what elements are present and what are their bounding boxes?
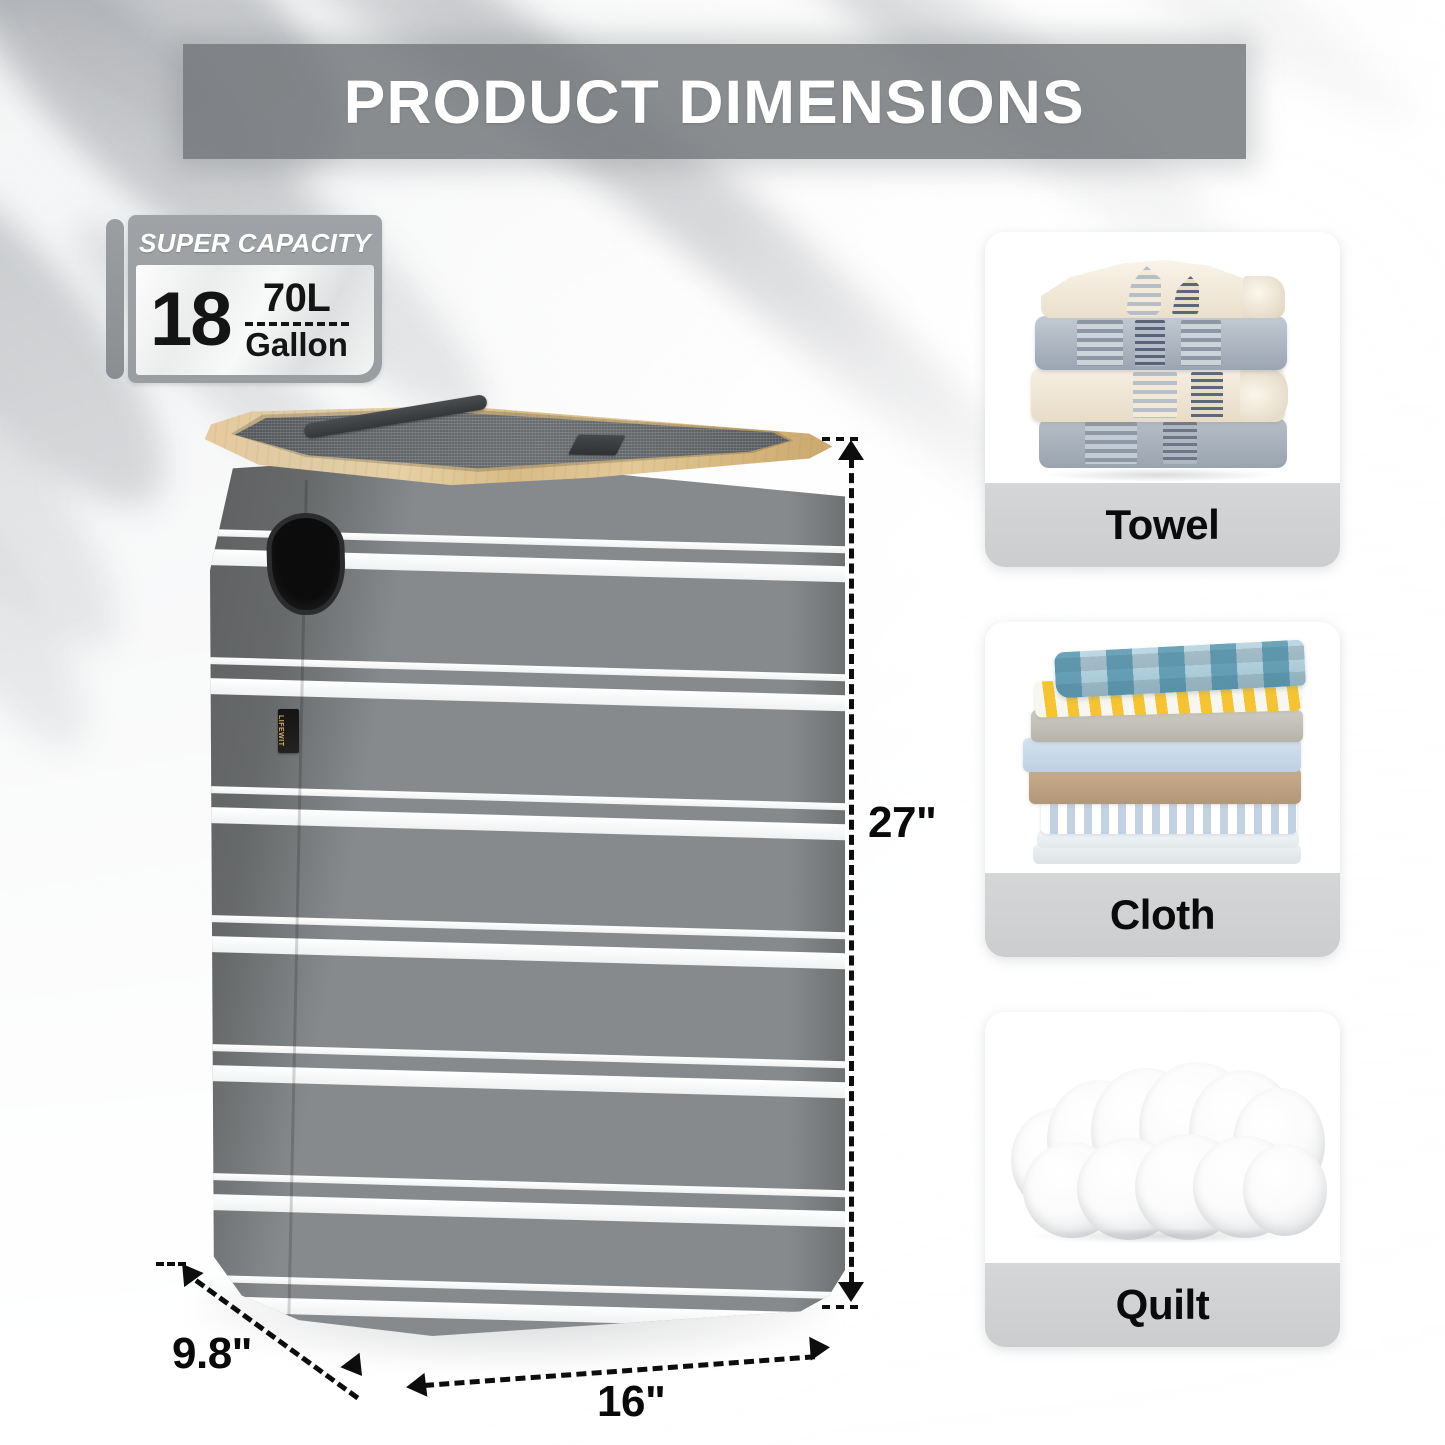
height-bottom-tick: [822, 1305, 858, 1309]
cloth-label: Cloth: [1110, 891, 1215, 939]
hamper-body: LIFEWIT: [210, 456, 845, 1336]
badge-heading: SUPER CAPACITY: [128, 222, 382, 265]
use-case-card-cloth[interactable]: Cloth: [985, 622, 1340, 957]
badge-body: SUPER CAPACITY 18 70L Gallon: [128, 215, 382, 383]
laundry-hamper-product: LIFEWIT: [185, 398, 845, 1373]
quilt-image: [985, 1012, 1340, 1270]
brand-tag-text: LIFEWIT: [278, 715, 284, 736]
quilt-shadow: [1025, 1228, 1297, 1244]
height-label: 27": [868, 798, 936, 848]
width-label: 16": [597, 1377, 665, 1427]
badge-unit-group: 70L Gallon: [245, 278, 349, 362]
towel-shadow: [1045, 468, 1275, 482]
brand-tag: LIFEWIT: [278, 709, 299, 753]
towel-stack-image: [985, 232, 1340, 490]
height-dash-line: [849, 458, 854, 1282]
badge-side-bar: [106, 219, 124, 379]
page-title-banner: PRODUCT DIMENSIONS: [183, 44, 1246, 159]
badge-gallon-number: 18: [150, 284, 231, 356]
badge-value-panel: 18 70L Gallon: [136, 265, 374, 375]
infographic-canvas: PRODUCT DIMENSIONS SUPER CAPACITY 18 70L…: [0, 0, 1445, 1445]
towel-label-bar: Towel: [985, 483, 1340, 567]
towel-label: Towel: [1106, 501, 1220, 549]
use-case-card-towel[interactable]: Towel: [985, 232, 1340, 567]
width-right-arrow: [809, 1335, 831, 1360]
badge-unit-label: Gallon: [245, 328, 348, 362]
use-case-card-quilt[interactable]: Quilt: [985, 1012, 1340, 1347]
height-bottom-arrow: [838, 1282, 864, 1302]
cloth-label-bar: Cloth: [985, 873, 1340, 957]
depth-label: 9.8": [172, 1329, 252, 1379]
hamper-side-handle[interactable]: [271, 517, 341, 611]
quilt-label: Quilt: [1116, 1281, 1210, 1329]
page-title: PRODUCT DIMENSIONS: [344, 67, 1085, 137]
quilt-label-bar: Quilt: [985, 1263, 1340, 1347]
lid-pull-tab[interactable]: [568, 435, 626, 456]
height-top-arrow: [838, 440, 864, 460]
badge-litre-value: 70L: [263, 278, 330, 318]
hamper-lid[interactable]: [185, 398, 845, 518]
cloth-stack-image: [985, 622, 1340, 880]
capacity-badge: SUPER CAPACITY 18 70L Gallon: [106, 215, 382, 383]
